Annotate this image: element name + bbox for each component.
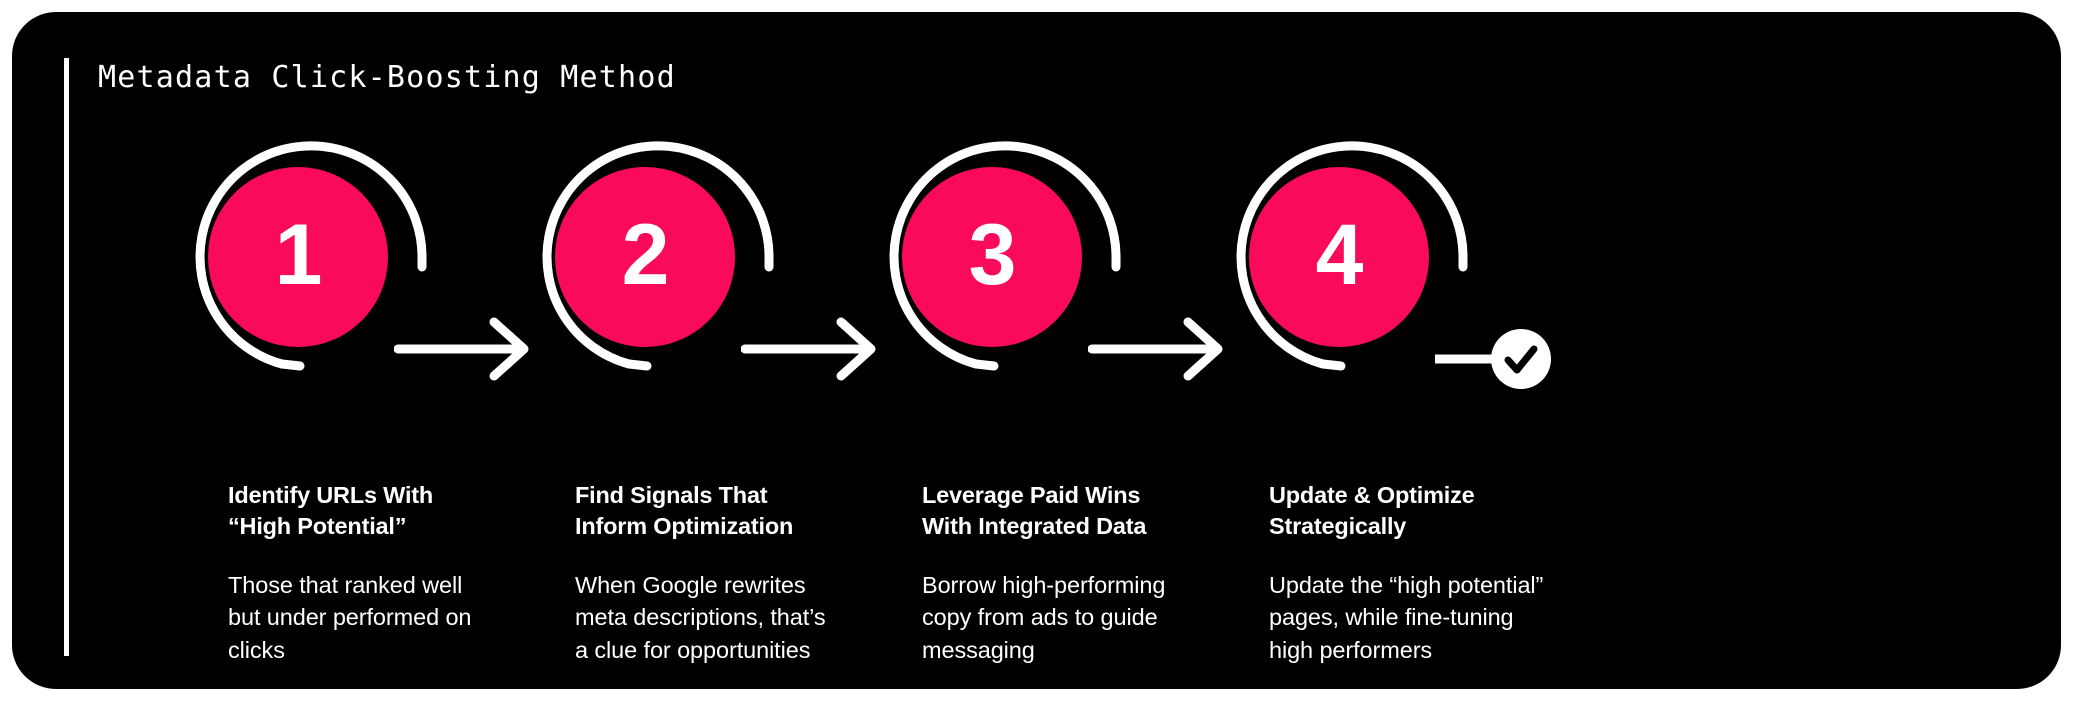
step-4-body: Update the “high potential” pages, while…	[1269, 569, 1599, 667]
step-4-arc-tail	[1323, 364, 1341, 366]
left-accent-rule	[64, 58, 69, 656]
step-2-arc-tail	[629, 364, 647, 366]
step-4-heading: Update & Optimize Strategically	[1269, 480, 1599, 543]
step-4: 4 Update & Optimize Strategically Update…	[1143, 12, 1613, 689]
step-3-arc-tail	[976, 364, 994, 366]
step-4-graphic	[1143, 12, 1613, 392]
step-4-number: 4	[1239, 212, 1439, 298]
step-2-number: 2	[545, 212, 745, 298]
step-3-number: 3	[892, 212, 1092, 298]
step-1-arc-tail	[282, 364, 300, 366]
infographic-card: Metadata Click-Boosting Method 1 Identif…	[12, 12, 2061, 689]
step-1-number: 1	[198, 212, 398, 298]
step-4-text-block: Update & Optimize Strategically Update t…	[1269, 480, 1599, 666]
